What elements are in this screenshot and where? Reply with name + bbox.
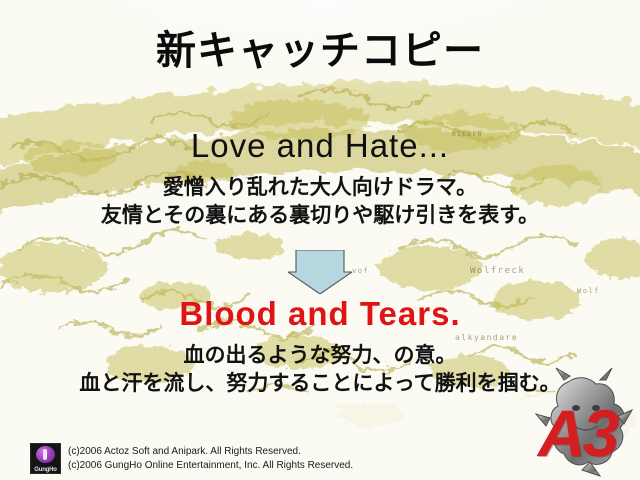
map-label: vof [352,267,369,275]
copyright-line-1: (c)2006 Actoz Soft and Anipark. All Righ… [68,445,353,459]
down-arrow-icon [288,250,352,294]
love-and-hate-title: Love and Hate... [0,128,640,164]
blood-and-tears-title: Blood and Tears. [0,296,640,332]
love-description-line-2: 友情とその裏にある裏切りや駆け引きを表す。 [0,202,640,229]
copyright-footer: GungHo (c)2006 Actoz Soft and Anipark. A… [30,443,353,474]
slide-headline: 新キャッチコピー [0,30,640,72]
map-label: Wolfreck [470,266,525,276]
gungho-wordmark: GungHo [31,467,60,473]
copyright-text-group: (c)2006 Actoz Soft and Anipark. All Righ… [68,445,353,472]
map-label: Wolf [577,287,600,295]
a3-game-logo: A3 [534,366,634,478]
love-and-hate-description: 愛憎入り乱れた大人向けドラマ。 友情とその裏にある裏切りや駆け引きを表す。 [0,174,640,229]
gungho-logo: GungHo [30,443,61,474]
concept-block-love-and-hate: Love and Hate... 愛憎入り乱れた大人向けドラマ。 友情とその裏に… [0,128,640,229]
presentation-slide: Wolfreck alkyandare Wolf vof NIEDEN 新キャッ… [0,0,640,480]
copyright-line-2: (c)2006 GungHo Online Entertainment, Inc… [68,459,353,473]
love-description-line-1: 愛憎入り乱れた大人向けドラマ。 [0,174,640,201]
gungho-orb-icon [36,446,55,463]
a3-wordmark: A3 [538,400,616,466]
